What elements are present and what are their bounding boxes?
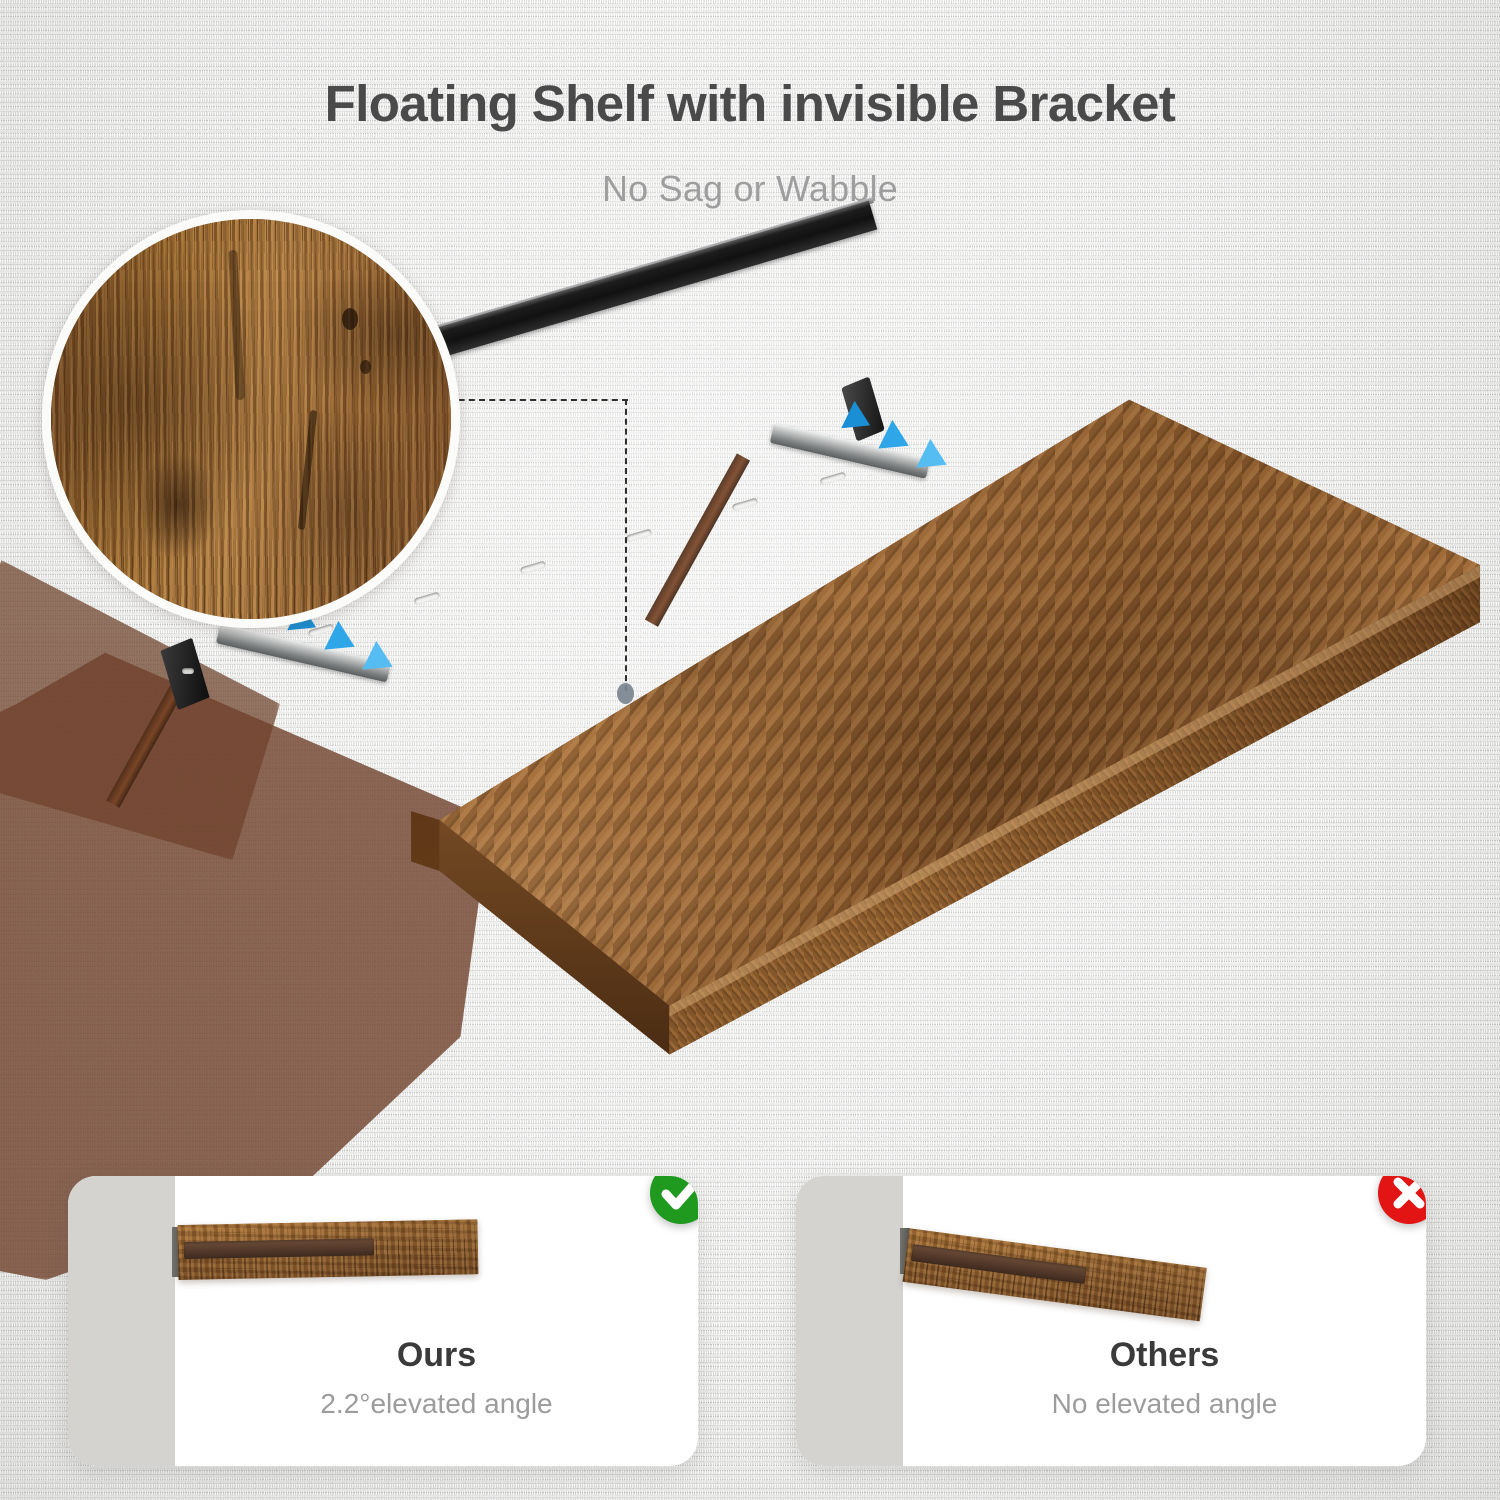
bracket-slot-5: [732, 497, 759, 511]
comparison-card-others[interactable]: Others No elevated angle: [796, 1176, 1426, 1466]
wood-grain-texture: [42, 210, 460, 628]
card-wall-block-ours: [68, 1176, 175, 1466]
bracket-screw-hole-left: [182, 668, 194, 674]
card-wall-block-others: [796, 1176, 903, 1466]
cross-icon: [1378, 1176, 1426, 1224]
card-label-others: Others: [903, 1336, 1426, 1375]
card-sublabel-others: No elevated angle: [903, 1388, 1426, 1420]
card-sublabel-ours: 2.2°elevated angle: [175, 1388, 698, 1420]
bracket-slot-4: [626, 528, 653, 542]
page-subtitle: No Sag or Wabble: [0, 168, 1500, 210]
page-title: Floating Shelf with invisible Bracket: [0, 74, 1500, 133]
callout-endpoint-dot: [617, 683, 634, 704]
check-icon: [650, 1176, 698, 1224]
card-label-ours: Ours: [175, 1336, 698, 1375]
comparison-card-ours[interactable]: Ours 2.2°elevated angle: [68, 1176, 698, 1466]
wood-grain-closeup-inset: wood-grain-closeup: [42, 210, 460, 628]
product-infographic: Floating Shelf with invisible Bracket No…: [0, 0, 1500, 1500]
bracket-slot-6: [820, 471, 847, 485]
bracket-brace-right: [645, 453, 750, 626]
mini-embedded-rod-ours: [184, 1238, 374, 1259]
callout-line-vertical: [625, 399, 627, 691]
bracket-slot-3: [520, 560, 547, 574]
